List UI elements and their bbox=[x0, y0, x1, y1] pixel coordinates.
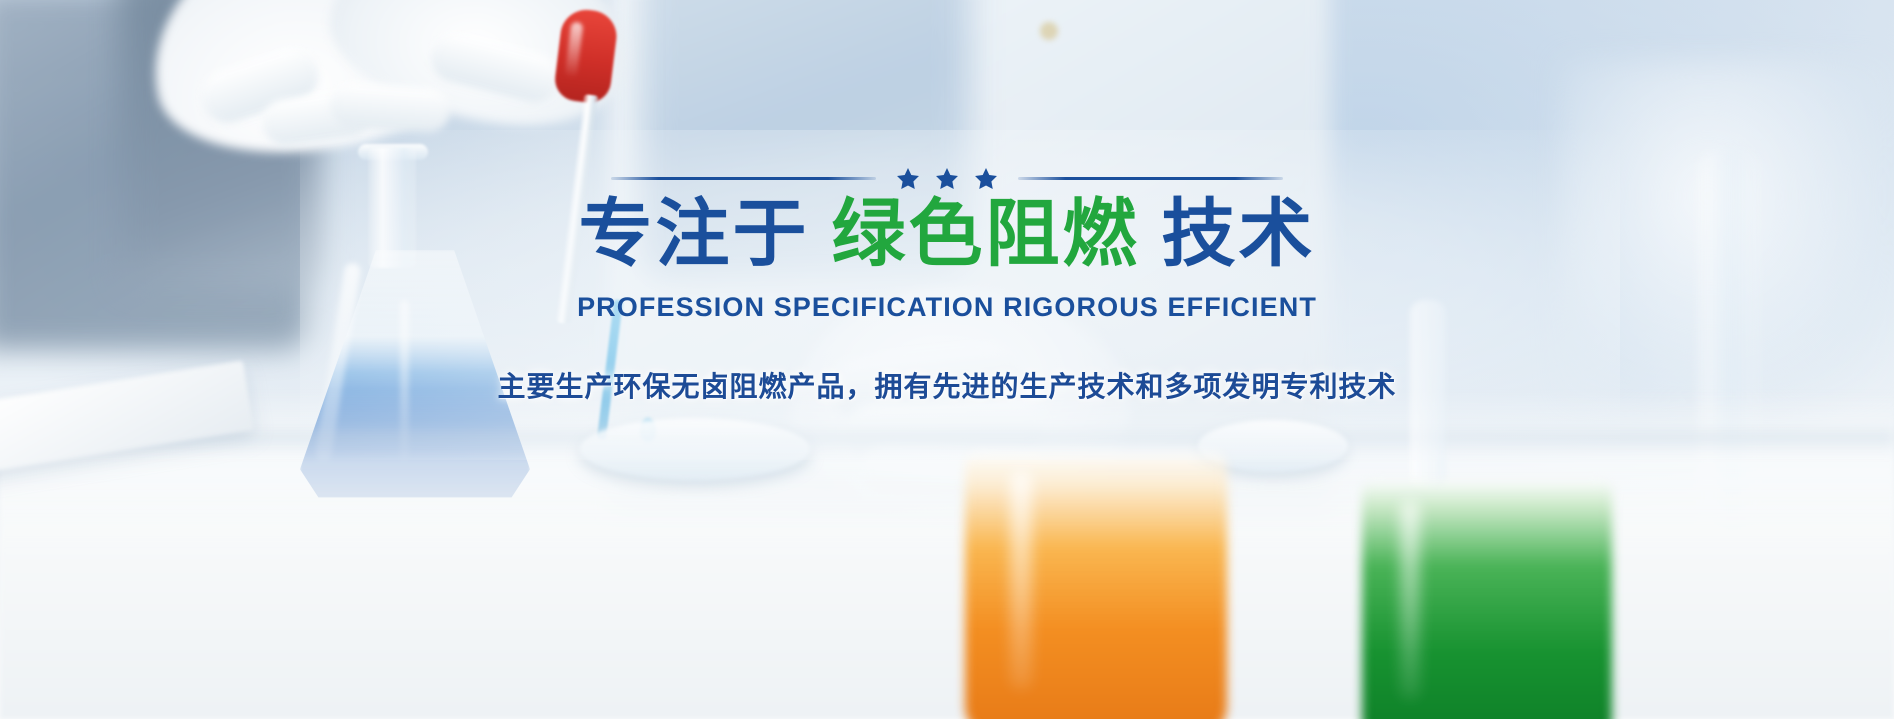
decorative-divider bbox=[611, 163, 1283, 193]
hero-banner: 专注于绿色阻燃技术 PROFESSION SPECIFICATION RIGOR… bbox=[0, 0, 1894, 719]
tagline: PROFESSION SPECIFICATION RIGOROUS EFFICI… bbox=[577, 292, 1317, 323]
page-title: 专注于绿色阻燃技术 bbox=[579, 197, 1316, 271]
divider-line-left bbox=[611, 177, 876, 180]
star-icon bbox=[936, 168, 958, 189]
headline-part-two: 绿色阻燃 bbox=[832, 191, 1140, 277]
banner-content: 专注于绿色阻燃技术 PROFESSION SPECIFICATION RIGOR… bbox=[0, 0, 1894, 719]
divider-line-right bbox=[1018, 177, 1283, 180]
divider-stars bbox=[876, 168, 1018, 189]
headline-part-three: 技术 bbox=[1162, 191, 1316, 277]
star-icon bbox=[897, 168, 919, 189]
description-text: 主要生产环保无卤阻燃产品，拥有先进的生产技术和多项发明专利技术 bbox=[497, 365, 1396, 405]
star-icon bbox=[975, 168, 997, 189]
headline-part-one: 专注于 bbox=[579, 191, 810, 277]
